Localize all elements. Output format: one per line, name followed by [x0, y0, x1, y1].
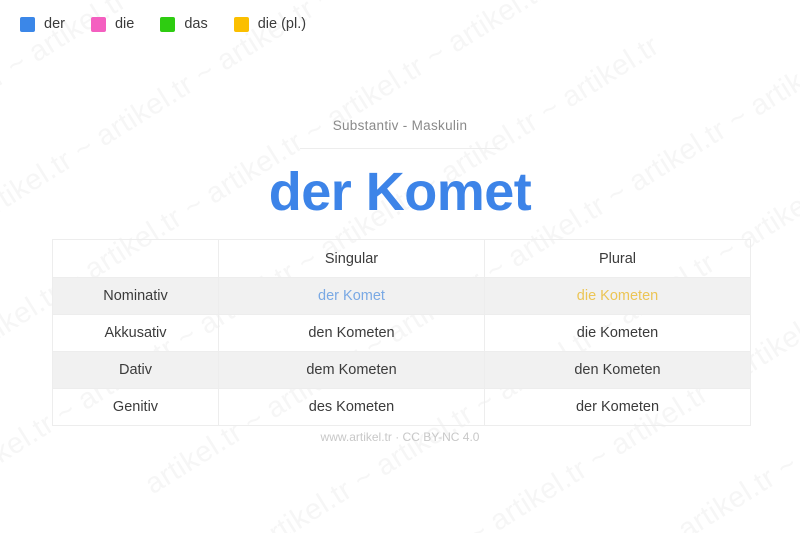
plural-form: die Kometen	[485, 315, 751, 352]
declension-table: Singular Plural Nominativ der Komet die …	[52, 239, 751, 426]
table-row: Nominativ der Komet die Kometen	[53, 278, 751, 315]
column-header-case	[53, 240, 219, 278]
plural-form: der Kometen	[485, 389, 751, 426]
page-title: der Komet	[0, 160, 800, 225]
table-row: Akkusativ den Kometen die Kometen	[53, 315, 751, 352]
word-meta: Substantiv - Maskulin	[0, 118, 800, 149]
case-label: Nominativ	[53, 278, 219, 315]
legend-item-die: die	[91, 17, 134, 32]
table-header-row: Singular Plural	[53, 240, 751, 278]
plural-form: den Kometen	[485, 352, 751, 389]
color-swatch-pink-icon	[91, 17, 106, 32]
case-label: Dativ	[53, 352, 219, 389]
color-swatch-amber-icon	[234, 17, 249, 32]
legend-item-das: das	[160, 17, 207, 32]
case-label: Akkusativ	[53, 315, 219, 352]
singular-form: dem Kometen	[219, 352, 485, 389]
singular-form: der Komet	[219, 278, 485, 315]
table-row: Dativ dem Kometen den Kometen	[53, 352, 751, 389]
legend-label: die	[115, 17, 134, 32]
singular-form: den Kometen	[219, 315, 485, 352]
footer-attribution: www.artikel.tr · CC BY-NC 4.0	[0, 430, 800, 444]
color-swatch-green-icon	[160, 17, 175, 32]
declension-card: artikel.tr ~ artikel.tr ~ artikel.tr ~ a…	[0, 0, 800, 533]
legend-item-die-plural: die (pl.)	[234, 17, 306, 32]
article-color-legend: der die das die (pl.)	[20, 17, 306, 32]
legend-label: die (pl.)	[258, 17, 306, 32]
color-swatch-blue-icon	[20, 17, 35, 32]
case-label: Genitiv	[53, 389, 219, 426]
column-header-singular: Singular	[219, 240, 485, 278]
legend-label: das	[184, 17, 207, 32]
legend-label: der	[44, 17, 65, 32]
divider	[300, 148, 500, 149]
table-row: Genitiv des Kometen der Kometen	[53, 389, 751, 426]
word-category: Substantiv - Maskulin	[0, 118, 800, 133]
column-header-plural: Plural	[485, 240, 751, 278]
legend-item-der: der	[20, 17, 65, 32]
plural-form: die Kometen	[485, 278, 751, 315]
singular-form: des Kometen	[219, 389, 485, 426]
